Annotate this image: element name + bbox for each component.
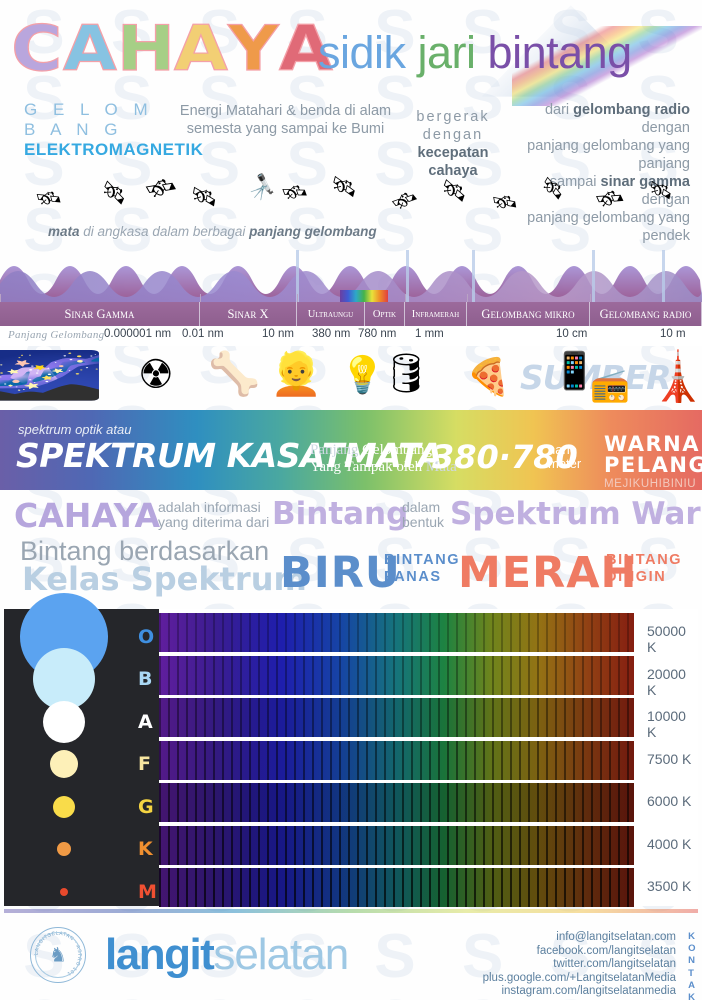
wavelength-label-1: 0.01 nm	[182, 328, 224, 340]
em-tick-1	[200, 294, 201, 302]
vs-mejikuhibiniu: MEJIKUHIBINIU	[604, 478, 696, 490]
star-disc-M	[60, 888, 68, 896]
intro-range-line1: dari gelombang radio dengan	[513, 101, 690, 137]
svg-text:LANGITSELATAN · ASTRO 101: LANGITSELATAN · ASTRO 101	[34, 931, 83, 977]
stmt-dalam-l2: bentuk	[402, 515, 444, 530]
spectrum-row-A: 10000 K	[159, 698, 698, 737]
intro-range-line2: panjang gelombang yang panjang	[513, 137, 690, 173]
infographic-page: SSSSSSSSSSSSSSSSSSSSSSSSSSSSSSSSSSSSSSSS…	[0, 0, 702, 1000]
stmt-panas-l2: PANAS	[384, 569, 460, 586]
satellite-caption-b: di angkasa dalam berbagai	[80, 224, 250, 239]
satellite-icon-4: 🛰	[188, 182, 220, 212]
spectrum-row-G: 6000 K	[159, 783, 698, 822]
spectral-class-F: F	[138, 753, 151, 775]
satellite-icon-7: 🛰	[327, 171, 361, 203]
spectrum-strip-B	[159, 656, 634, 695]
subtitle-word-1: jari	[418, 27, 488, 78]
em-band-ultraungu: Ultraungu	[297, 302, 365, 326]
em-tick-4	[405, 294, 406, 302]
wavelength-caption: Panjang Gelombang	[8, 329, 104, 341]
em-tick-6	[590, 294, 591, 302]
temperature-label-O: 50000 K	[647, 623, 698, 655]
spectrum-row-M: 3500 K	[159, 868, 698, 907]
wavelength-label-7: 10 m	[660, 328, 686, 340]
stmt-adalah-l1: adalah informasi	[158, 500, 269, 515]
satellite-band: mata di angkasa dalam berbagai panjang g…	[0, 172, 702, 250]
temperature-label-B: 20000 K	[647, 666, 698, 698]
stmt-dalam-l1: dalam	[402, 500, 444, 515]
contact-line-0[interactable]: info@langitselatan.com	[483, 931, 676, 945]
spectrum-strip-G	[159, 783, 634, 822]
sun-tanning-icon: 👱	[270, 350, 322, 399]
intro-text-row: G E L O M B A N G ELEKTROMAGNETIK Energi…	[0, 100, 702, 172]
spectral-class-A: A	[138, 711, 153, 733]
temperature-label-F: 7500 K	[647, 751, 691, 767]
vs-warna-l2: PELANGI	[604, 455, 702, 476]
footer: ♞ LANGITSELATAN · ASTRO 101 langitselata…	[0, 913, 702, 991]
em-spectrum-bar: Sinar GammaSinar XUltraunguOptikInframer…	[0, 302, 702, 326]
deer-icon: ♞	[49, 943, 67, 968]
radiation-xray-icon: ☢	[138, 352, 174, 398]
vs-pjg-c: Yang Tampak oleh	[310, 459, 426, 475]
intro-range-l1c: dengan	[642, 120, 690, 136]
xray-scan-icon: 🦴	[208, 350, 260, 399]
intro-range-l1b: gelombang radio	[573, 102, 690, 118]
vs-warna-l1: WARNA	[604, 434, 702, 455]
vs-unit-l1: nano	[548, 443, 581, 457]
stmt-adalah: adalah informasi yang diterima dari	[158, 500, 269, 530]
intro-range-l1a: dari	[545, 102, 573, 118]
satellite-caption-a: mata	[48, 224, 80, 239]
satellite-icon-1: 🛰	[33, 183, 64, 214]
stmt-dalam-bentuk: dalam bentuk	[402, 500, 444, 530]
subtitle-word-2: bintang	[488, 27, 632, 78]
contact-line-4[interactable]: instagram.com/langitselatanmedia	[483, 985, 676, 999]
galaxy-gamma-icon: 🌌	[0, 348, 107, 403]
star-disc-G	[53, 796, 75, 818]
satellite-icon-11: 🛰	[535, 171, 569, 205]
spectrum-row-O: 50000 K	[159, 613, 698, 652]
intro-col-speed: bergerak dengan kecepatan cahaya	[393, 100, 513, 172]
em-tick-5	[467, 294, 468, 302]
vs-unit-l2: meter	[548, 457, 581, 471]
title-letter-3: A	[174, 18, 229, 80]
em-band-optik: Optik	[365, 302, 405, 326]
contact-line-2[interactable]: twitter.com/langitselatan	[483, 958, 676, 972]
contact-list: info@langitselatan.comfacebook.com/langi…	[483, 931, 676, 999]
microwave-icon: 🍕	[466, 356, 511, 398]
temperature-label-M: 3500 K	[647, 878, 691, 894]
temperature-label-A: 10000 K	[647, 708, 698, 740]
radio-icon: 📻	[590, 366, 630, 404]
em-band-gelombang-mikro: Gelombang mikro	[467, 302, 590, 326]
contact-line-3[interactable]: plus.google.com/+LangitselatanMedia	[483, 972, 676, 986]
satellite-icon-13: 🛰	[646, 176, 676, 206]
intro-col-electromagnetic: G E L O M B A N G ELEKTROMAGNETIK	[10, 100, 178, 172]
temperature-label-K: 4000 K	[647, 836, 691, 852]
satellite-caption-c: panjang gelombang	[249, 224, 377, 239]
spectrum-row-B: 20000 K	[159, 656, 698, 695]
subtitle-word-0: sidik	[318, 27, 418, 78]
seal-text-ring: LANGITSELATAN · ASTRO 101	[31, 928, 85, 982]
spectrum-strip-F	[159, 741, 634, 780]
logo-bold: langit	[105, 930, 213, 979]
spectral-class-B: B	[138, 668, 152, 690]
page-title: CAHAYA	[14, 18, 336, 80]
langitselatan-wordmark[interactable]: langitselatan	[105, 931, 348, 979]
kontak-vertical-label: KONTAK	[688, 931, 696, 1000]
vs-small-label: spektrum optik atau	[18, 422, 131, 437]
lightbulb-icon: 💡	[340, 354, 385, 396]
vs-pjg-b: Gelombang	[362, 442, 432, 458]
intro-energy-line2: semesta yang sampai ke Bumi	[178, 120, 393, 138]
stmt-adalah-l2: yang diterima dari	[158, 515, 269, 530]
satellite-icon-9: 🛰	[436, 174, 471, 208]
intro-col-range: dari gelombang radio dengan panjang gelo…	[513, 100, 698, 172]
stmt-bintang: Bintang	[272, 496, 408, 532]
logo-light: selatan	[213, 930, 348, 979]
stmt-cahaya: CAHAYA	[14, 496, 160, 535]
label-elektromagnetik: ELEKTROMAGNETIK	[24, 140, 178, 160]
spectrum-row-K: 4000 K	[159, 826, 698, 865]
satellite-icon-6: 🛰	[278, 176, 310, 208]
spectral-class-M: M	[138, 881, 157, 903]
kontak-char-0: K	[688, 931, 696, 943]
satellite-icon-8: 🛰	[387, 183, 423, 218]
spectrum-row-F: 7500 K	[159, 741, 698, 780]
spectral-class-G: G	[138, 796, 154, 818]
em-tick-0	[0, 294, 1, 302]
heater-infrared-icon: 🛢	[382, 352, 430, 396]
wavelength-label-6: 10 cm	[556, 328, 587, 340]
intro-col-energy: Energi Matahari & benda di alam semesta …	[178, 100, 393, 172]
wavelength-label-5: 1 mm	[415, 328, 444, 340]
stellar-spectrum-chart: OBAFGKM 50000 K20000 K10000 K7500 K6000 …	[4, 609, 698, 906]
vs-pjg-a: Panjang	[310, 442, 362, 458]
star-disc-F	[50, 750, 78, 778]
em-band-gelombang-radio: Gelombang radio	[590, 302, 702, 326]
em-band-sinar-gamma: Sinar Gamma	[0, 302, 200, 326]
star-disc-A	[43, 701, 85, 743]
source-icon-row: SUMBER 🌌☢🦴👱💡🛢🍕📱📻🗼	[0, 346, 702, 406]
kontak-char-2: N	[688, 955, 696, 967]
kontak-char-1: O	[688, 943, 696, 955]
langitselatan-seal-icon: ♞ LANGITSELATAN · ASTRO 101	[30, 927, 86, 983]
optik-color-strip	[340, 290, 388, 302]
spectral-class-K: K	[138, 838, 153, 860]
wavelength-label-4: 780 nm	[358, 328, 396, 340]
spectrum-strip-K	[159, 826, 634, 865]
title-letter-1: A	[63, 18, 118, 80]
intro-speed-line1: bergerak dengan	[393, 108, 513, 144]
statement-block: CAHAYA adalah informasi yang diterima da…	[0, 490, 702, 605]
satellite-icon-10: 🛰	[490, 188, 519, 217]
intro-energy-line1: Energi Matahari & benda di alam	[178, 102, 393, 120]
chart-star-panel: OBAFGKM	[4, 609, 159, 906]
vs-warna-pelangi: WARNA PELANGI	[604, 434, 702, 476]
satellite-icon-3: 🛰	[141, 168, 182, 208]
satellite-icon-2: 🛰	[96, 175, 132, 210]
wavelength-label-2: 10 nm	[262, 328, 294, 340]
kontak-char-4: A	[688, 980, 696, 992]
em-tick-2	[297, 294, 298, 302]
spectrum-strip-A	[159, 698, 634, 737]
page-subtitle: sidik jari bintang	[318, 28, 632, 78]
label-gelombang: G E L O M B A N G	[24, 100, 178, 140]
header: CAHAYA sidik jari bintang	[0, 0, 702, 100]
kontak-char-3: T	[688, 968, 696, 980]
stmt-biru: BIRU	[280, 548, 401, 598]
satellite-icon-12: 🛰	[592, 181, 628, 216]
vs-unit: nano meter	[548, 443, 581, 471]
stmt-panas-l1: BINTANG	[384, 552, 460, 569]
spectral-class-O: O	[138, 626, 154, 648]
title-letter-2: H	[116, 18, 175, 80]
title-letter-0: C	[11, 18, 63, 80]
stmt-dingin-l2: DINGIN	[606, 569, 682, 586]
spectrum-strip-M	[159, 868, 634, 907]
wavelength-label-0: 0.000001 nm	[104, 328, 171, 340]
stmt-dingin-l1: BINTANG	[606, 552, 682, 569]
stmt-bintang-dingin: BINTANG DINGIN	[606, 552, 682, 586]
visible-spectrum-banner: spektrum optik atau SPEKTRUM KASATMATA P…	[0, 410, 702, 490]
title-letter-4: Y	[229, 18, 280, 80]
wavelength-scale-row: Panjang Gelombang 0.000001 nm0.01 nm10 n…	[0, 326, 702, 346]
satellite-icon-5: 🔭	[243, 170, 281, 208]
wavelength-label-3: 380 nm	[312, 328, 350, 340]
em-band-inframerah: Inframerah	[405, 302, 467, 326]
contact-line-1[interactable]: facebook.com/langitselatan	[483, 945, 676, 959]
spectrum-strip-O	[159, 613, 634, 652]
satellite-caption: mata di angkasa dalam berbagai panjang g…	[48, 224, 377, 239]
stmt-spektrum-warna: Spektrum Warna	[450, 496, 702, 532]
em-band-sinar-x: Sinar X	[200, 302, 297, 326]
radio-tower-icon: 🗼	[648, 348, 702, 405]
temperature-label-G: 6000 K	[647, 793, 691, 809]
star-disc-K	[57, 842, 71, 856]
kontak-char-5: K	[688, 992, 696, 1000]
stmt-bintang-panas: BINTANG PANAS	[384, 552, 460, 586]
